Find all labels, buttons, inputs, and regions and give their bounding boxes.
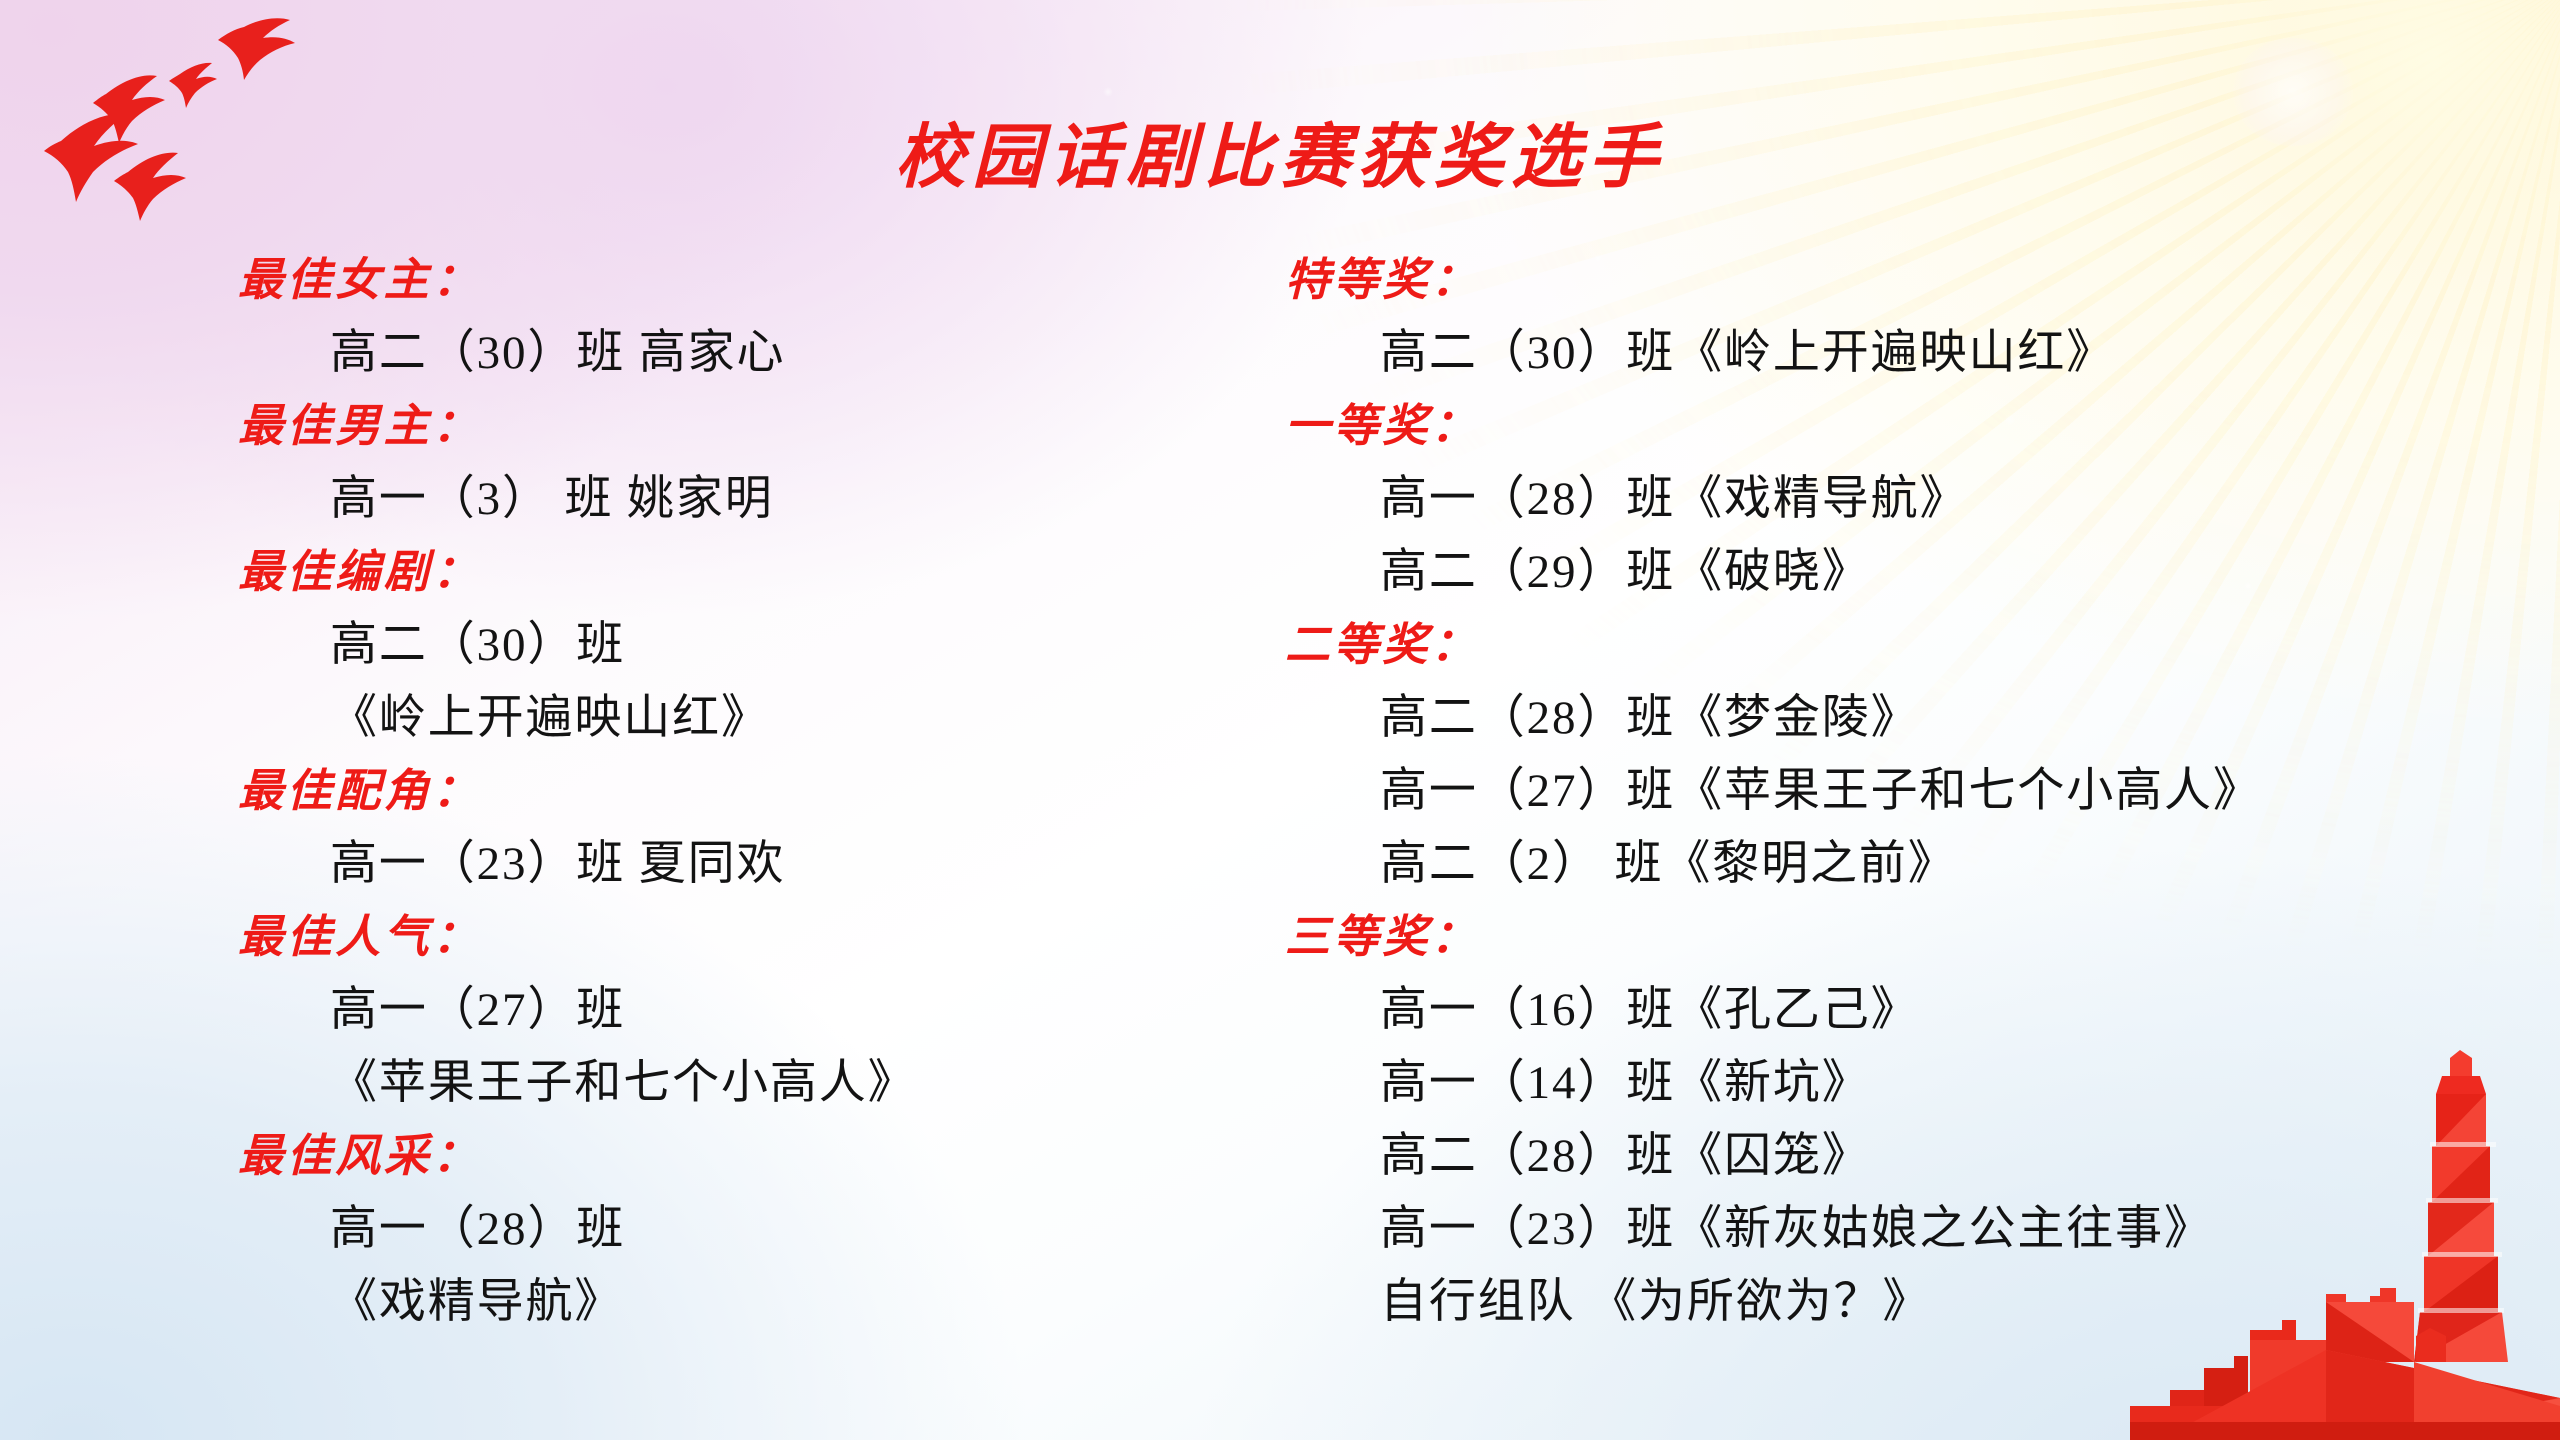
award-entry: 高二（28）班《囚笼》 <box>1285 1120 2545 1193</box>
award-entry: 《戏精导航》 <box>238 1266 1238 1339</box>
award-label-third-prize: 三等奖： <box>1285 901 2545 974</box>
page-title: 校园话剧比赛获奖选手 <box>0 124 2560 194</box>
award-label-best-actress: 最佳女主： <box>238 244 1238 317</box>
award-label-second-prize: 二等奖： <box>1285 609 2545 682</box>
award-label-special-prize: 特等奖： <box>1285 244 2545 317</box>
award-entry: 高二（2） 班《黎明之前》 <box>1285 828 2545 901</box>
award-label-best-screenwriter: 最佳编剧： <box>238 536 1238 609</box>
award-entry: 《岭上开遍映山红》 <box>238 682 1238 755</box>
award-entry: 高二（29）班《破晓》 <box>1285 536 2545 609</box>
award-entry: 高一（28）班《戏精导航》 <box>1285 463 2545 536</box>
award-entry: 高一（27）班《苹果王子和七个小高人》 <box>1285 755 2545 828</box>
award-label-best-style: 最佳风采： <box>238 1120 1238 1193</box>
award-label-first-prize: 一等奖： <box>1285 390 2545 463</box>
award-entry: 高一（14）班《新坑》 <box>1285 1047 2545 1120</box>
award-entry: 高二（30）班 <box>238 609 1238 682</box>
awards-column-right: 特等奖： 高二（30）班《岭上开遍映山红》 一等奖： 高一（28）班《戏精导航》… <box>1285 244 2545 1339</box>
flying-birds-icon <box>14 6 344 236</box>
award-entry: 自行组队 《为所欲为？》 <box>1285 1266 2545 1339</box>
award-label-best-actor: 最佳男主： <box>238 390 1238 463</box>
awards-column-left: 最佳女主： 高二（30）班 高家心 最佳男主： 高一（3） 班 姚家明 最佳编剧… <box>238 244 1238 1339</box>
award-entry: 高二（28）班《梦金陵》 <box>1285 682 2545 755</box>
award-entry: 高一（28）班 <box>238 1193 1238 1266</box>
award-entry: 高二（30）班《岭上开遍映山红》 <box>1285 317 2545 390</box>
award-entry: 高一（16）班《孔乙己》 <box>1285 974 2545 1047</box>
award-entry: 高一（23）班 夏同欢 <box>238 828 1238 901</box>
award-entry: 高一（23）班《新灰姑娘之公主往事》 <box>1285 1193 2545 1266</box>
award-entry: 高一（3） 班 姚家明 <box>238 463 1238 536</box>
award-label-best-supporting: 最佳配角： <box>238 755 1238 828</box>
award-entry: 高二（30）班 高家心 <box>238 317 1238 390</box>
slide-canvas: 校园话剧比赛获奖选手 最佳女主： 高二（30）班 高家心 最佳男主： 高一（3）… <box>0 0 2560 1440</box>
award-entry: 高一（27）班 <box>238 974 1238 1047</box>
award-label-most-popular: 最佳人气： <box>238 901 1238 974</box>
award-entry: 《苹果王子和七个小高人》 <box>238 1047 1238 1120</box>
